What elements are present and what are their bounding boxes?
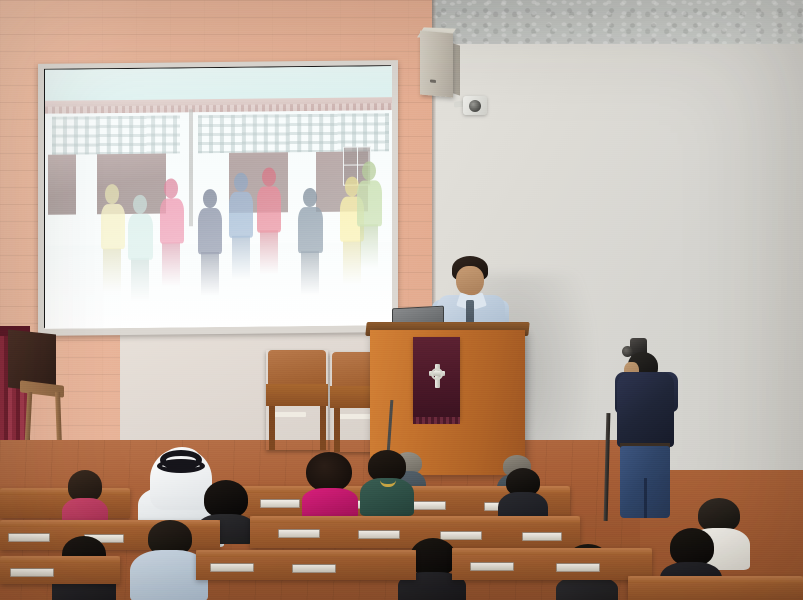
photographer-jeans — [620, 446, 670, 518]
pew-top-rail — [0, 556, 120, 563]
hymnal-slot — [522, 532, 562, 541]
attendee-magenta — [302, 452, 358, 514]
pew-back — [268, 350, 326, 386]
attendee-teal-green — [360, 450, 414, 514]
speaker-jack — [430, 79, 436, 83]
hymnal-slot — [8, 533, 50, 542]
hymnal-slot — [292, 564, 336, 573]
projected-photo — [45, 66, 392, 329]
pew-top-rail — [250, 516, 580, 523]
hymnal-slot — [260, 499, 300, 508]
pew-top-rail — [628, 576, 803, 583]
pew-row-near-right — [452, 548, 652, 580]
slide-overexposure — [45, 66, 392, 329]
pew-row-near-left — [0, 556, 120, 584]
pew-row-near-center — [196, 550, 416, 580]
projection-screen — [38, 60, 398, 336]
pew-leg-r — [320, 406, 326, 450]
pew-slot — [338, 414, 372, 419]
hymnal-slot — [278, 529, 320, 538]
camera-lens-icon — [469, 100, 481, 112]
photo-scene — [0, 0, 803, 600]
pew-row-front-right — [628, 576, 803, 600]
celtic-cross-icon — [429, 364, 445, 388]
hymnal-slot — [210, 563, 254, 572]
pew-leg-l — [269, 406, 275, 450]
hymnal-slot — [556, 563, 600, 572]
hymnal-slot — [10, 568, 54, 577]
pew-seat — [266, 384, 328, 406]
slide-content — [45, 66, 392, 329]
platform-pew-left — [266, 350, 328, 450]
pew-leg-l — [334, 408, 340, 452]
pew-top-rail — [196, 550, 416, 557]
attendee-thobe-agal-2 — [157, 459, 205, 473]
hymnal-slot — [470, 562, 514, 571]
cross-ring — [431, 368, 443, 380]
pew-slot — [272, 412, 306, 417]
pew-top-rail — [452, 548, 652, 555]
ceiling-speaker — [420, 31, 453, 98]
hymnal-slot — [358, 530, 400, 539]
concrete-band — [432, 0, 803, 44]
photographer-sweater — [617, 372, 674, 447]
